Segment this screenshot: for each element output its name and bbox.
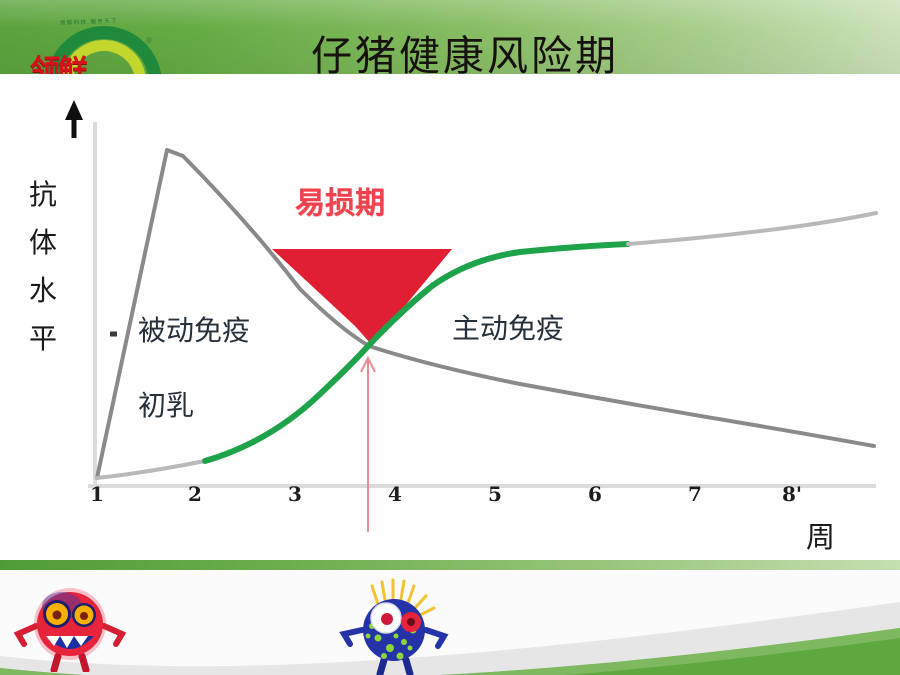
y-axis-label-char-1: 抗 [16,171,70,219]
page-title: 仔猪健康风险期 [0,22,900,82]
x-axis-label: 周 [806,514,835,556]
x-tick-1: 1 [85,482,109,506]
y-axis-label-char-3: 水 [16,267,70,315]
y-axis-label-char-2: 体 [16,219,70,267]
active-immunity-curve-end-faint [628,213,876,244]
annotation-passive-immunity: 被动免疫 [138,309,250,349]
annotation-colostrum: 初乳 [138,384,194,424]
y-axis-arrow-icon [65,100,83,138]
x-tick-8: 8' [780,482,804,506]
slide-canvas: 领鲜科技 服务天下 ® 领鲜 仔猪健康风险期 [0,0,900,675]
virus-blue-center-icon [338,578,450,675]
annotation-active-immunity: 主动免疫 [452,307,564,347]
footer-band: IC 大数跨境 [0,560,900,675]
active-immunity-curve-start-faint [97,461,205,478]
chart-container: 抗 体 水 平 1 2 3 4 5 6 7 8' 周 易损期 被动免疫 初乳 主… [0,74,900,560]
x-tick-6: 6 [583,482,607,506]
x-tick-3: 3 [283,482,307,506]
vulnerable-period-region [272,249,452,343]
virus-red-left-icon [10,582,130,672]
x-tick-5: 5 [483,482,507,506]
x-tick-2: 2 [183,482,207,506]
crossover-pointer-arrow-icon [361,358,375,532]
antibody-level-chart [0,74,900,560]
y-axis-label: 抗 体 水 平 [16,171,70,363]
x-tick-4: 4 [383,482,407,506]
footer-decoration [0,560,900,675]
annotation-vulnerable-period: 易损期 [295,178,385,222]
y-axis-label-char-4: 平 [16,315,70,363]
x-tick-7: 7 [683,482,707,506]
